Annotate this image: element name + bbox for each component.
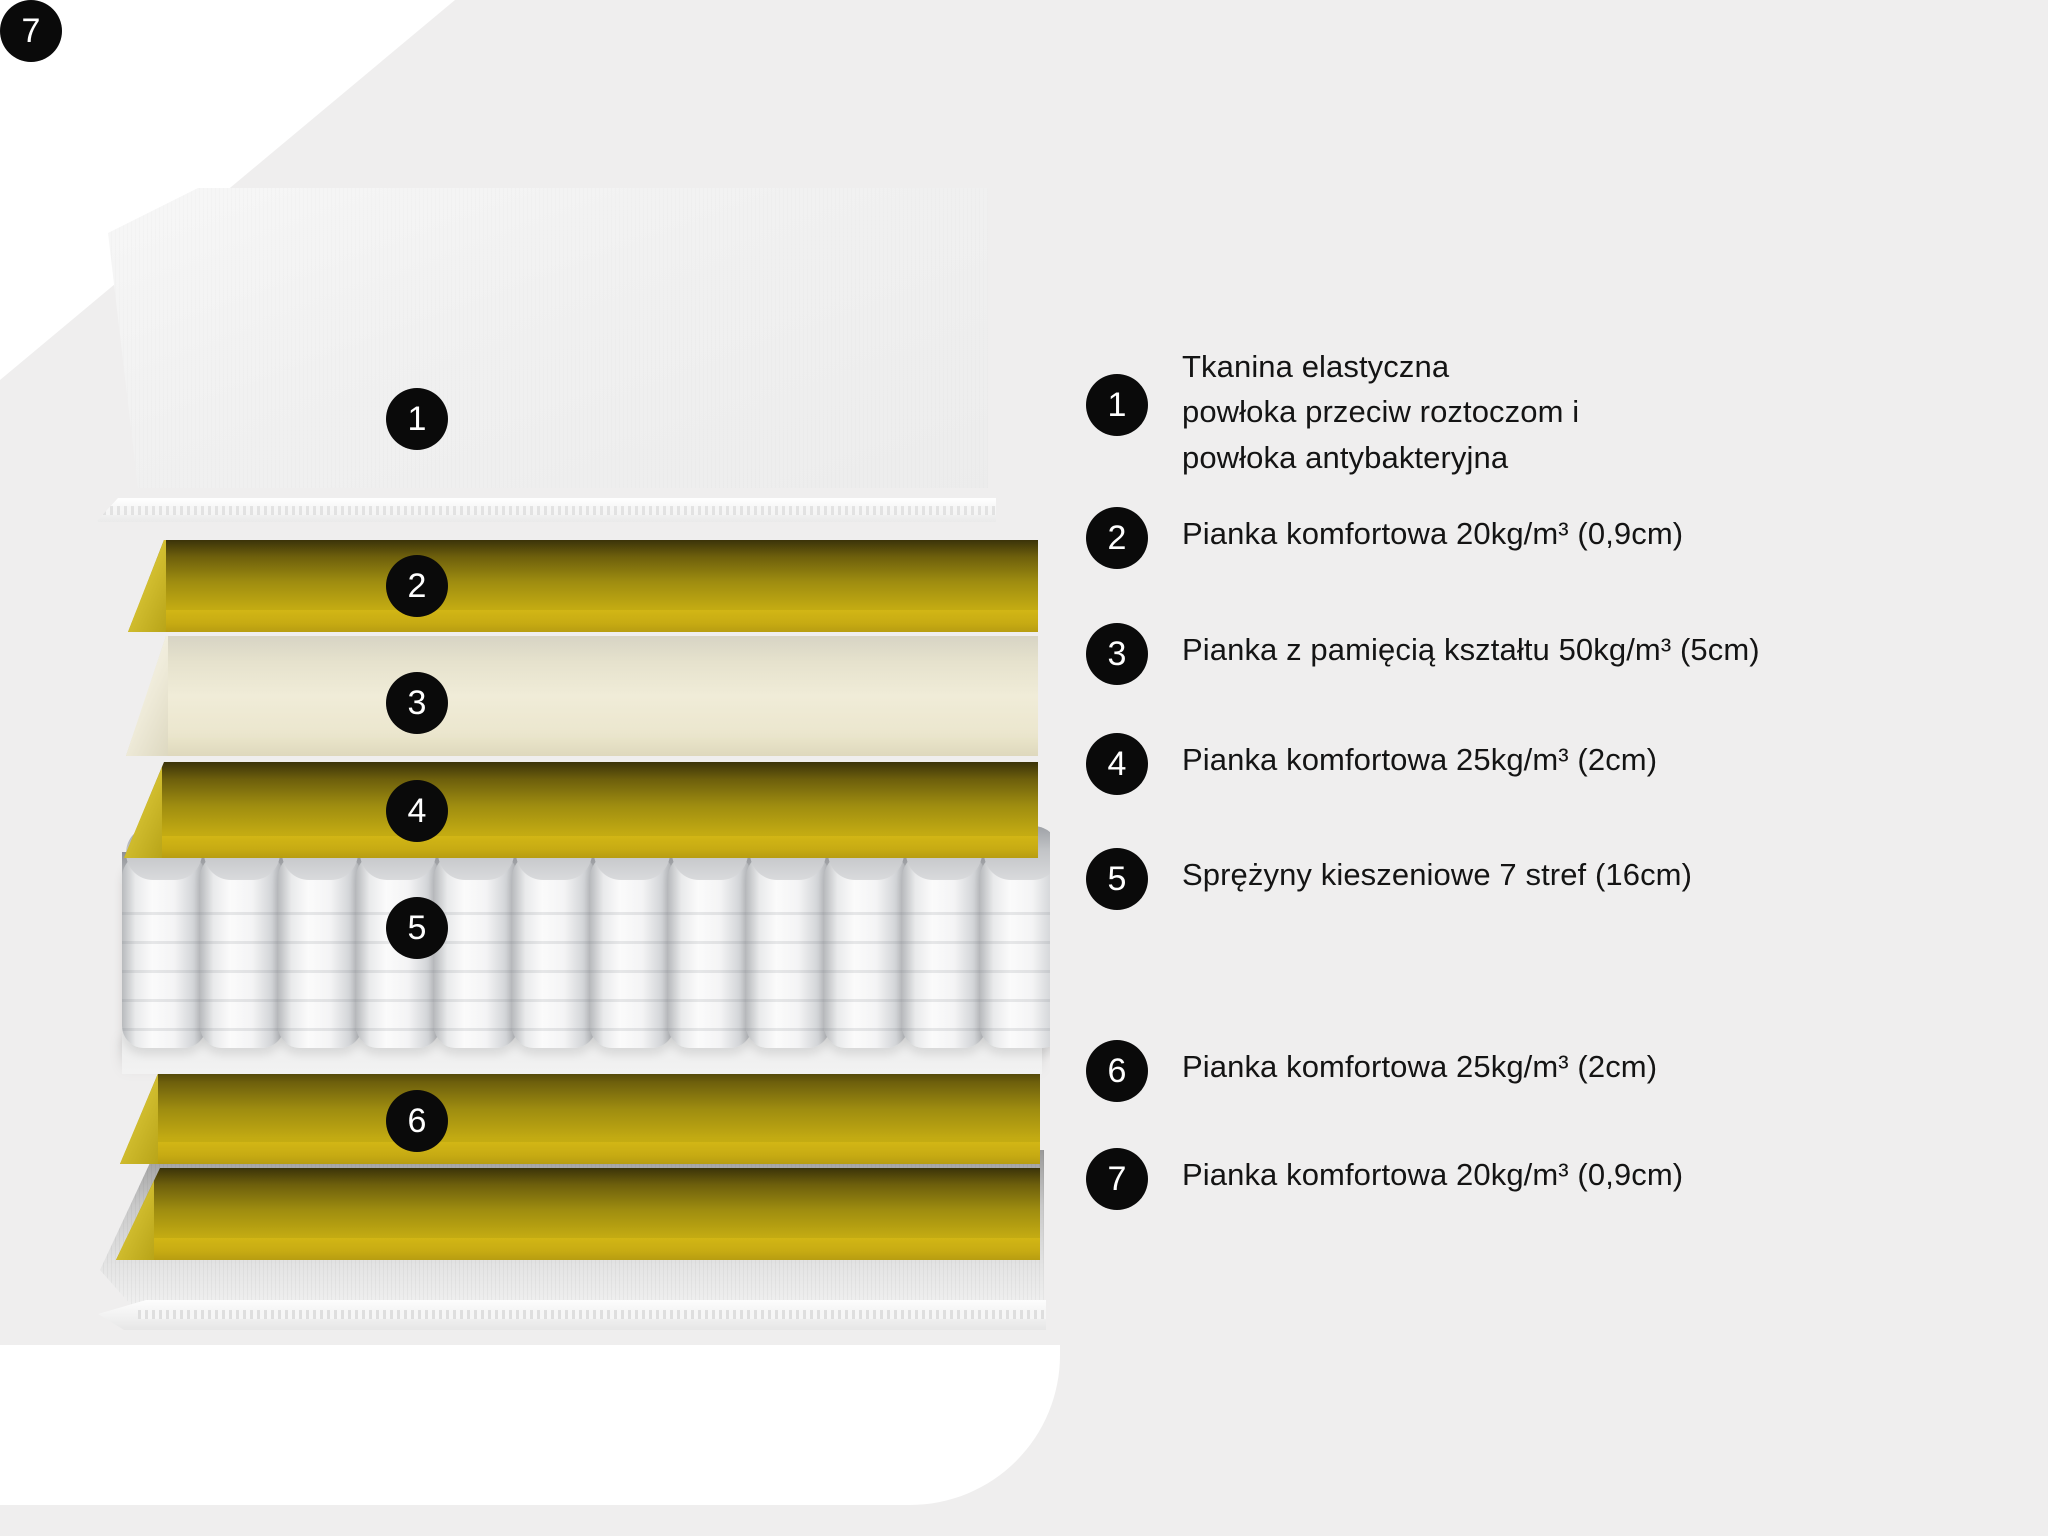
- legend-item-6: 6 Pianka komfortowa 25kg/m³ (2cm): [1086, 1040, 1657, 1102]
- layer-2-lip: [128, 610, 1038, 632]
- illustration-badge-4: 4: [386, 780, 448, 842]
- layer-7-lip: [116, 1238, 1040, 1260]
- legend-item-5: 5 Sprężyny kieszeniowe 7 stref (16cm): [1086, 848, 1692, 910]
- legend-item-4: 4 Pianka komfortowa 25kg/m³ (2cm): [1086, 733, 1657, 795]
- illustration-badge-2: 2: [386, 555, 448, 617]
- mattress-base-welt-seam: [98, 1300, 1046, 1336]
- layer-3-side: [126, 636, 168, 756]
- mattress-layer-4-comfort-foam: [124, 762, 1038, 858]
- legend-badge-5: 5: [1086, 848, 1148, 910]
- illustration-badge-6: 6: [386, 1090, 448, 1152]
- mattress-layer-1-welt-seam: [96, 498, 996, 530]
- pocket-spring: [278, 852, 362, 1048]
- legend-badge-4: 4: [1086, 733, 1148, 795]
- pocket-spring: [512, 852, 596, 1048]
- legend-label-3: Pianka z pamięcią kształtu 50kg/m³ (5cm): [1182, 623, 1760, 672]
- legend-label-6: Pianka komfortowa 25kg/m³ (2cm): [1182, 1040, 1657, 1089]
- pocket-spring: [668, 852, 752, 1048]
- pocket-spring: [902, 852, 986, 1048]
- mattress-layer-3-memory-foam: [126, 636, 1038, 756]
- legend-badge-6: 6: [1086, 1040, 1148, 1102]
- legend-badge-3: 3: [1086, 623, 1148, 685]
- mattress-layer-7-comfort-foam: [116, 1168, 1040, 1260]
- mattress-layer-1-elastic-fabric: [108, 188, 988, 518]
- mattress-layer-5-pocket-springs: [122, 852, 1042, 1074]
- legend-item-2: 2 Pianka komfortowa 20kg/m³ (0,9cm): [1086, 507, 1683, 569]
- legend-item-1: 1 Tkanina elastyczna powłoka przeciw roz…: [1086, 340, 1579, 480]
- legend-item-7: 7 Pianka komfortowa 20kg/m³ (0,9cm): [1086, 1148, 1683, 1210]
- pocket-spring: [980, 852, 1050, 1048]
- legend-label-4: Pianka komfortowa 25kg/m³ (2cm): [1182, 733, 1657, 782]
- illustration-badge-5: 5: [386, 897, 448, 959]
- mattress-layer-6-comfort-foam: [120, 1064, 1040, 1164]
- pocket-spring: [122, 852, 206, 1048]
- legend-label-5: Sprężyny kieszeniowe 7 stref (16cm): [1182, 848, 1692, 897]
- pocket-spring: [434, 852, 518, 1048]
- layer-4-lip: [124, 836, 1038, 858]
- legend-label-1: Tkanina elastyczna powłoka przeciw rozto…: [1182, 340, 1579, 480]
- legend-label-2: Pianka komfortowa 20kg/m³ (0,9cm): [1182, 507, 1683, 556]
- illustration-badge-1: 1: [386, 388, 448, 450]
- mattress-cross-section-illustration: 1 2 3 4 5 6 7: [0, 0, 1050, 1400]
- legend-badge-1: 1: [1086, 374, 1148, 436]
- layer-3-lip: [126, 738, 1038, 756]
- pocket-spring: [746, 852, 830, 1048]
- legend-badge-2: 2: [1086, 507, 1148, 569]
- illustration-badge-7: 7: [0, 0, 62, 62]
- pocket-spring: [824, 852, 908, 1048]
- legend-item-3: 3 Pianka z pamięcią kształtu 50kg/m³ (5c…: [1086, 623, 1760, 685]
- layer-6-side: [120, 1064, 158, 1164]
- legend-badge-7: 7: [1086, 1148, 1148, 1210]
- illustration-badge-3: 3: [386, 672, 448, 734]
- legend-label-7: Pianka komfortowa 20kg/m³ (0,9cm): [1182, 1148, 1683, 1197]
- pocket-spring: [590, 852, 674, 1048]
- pocket-spring: [200, 852, 284, 1048]
- layer-2-side: [128, 540, 166, 632]
- mattress-layer-2-comfort-foam: [128, 540, 1038, 632]
- layer-6-lip: [120, 1142, 1040, 1164]
